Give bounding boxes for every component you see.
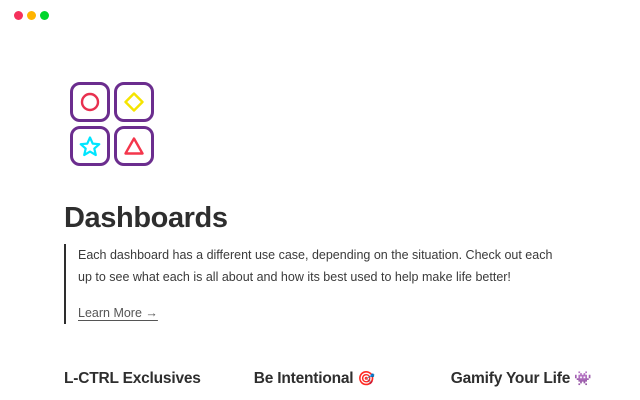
page-title: Dashboards xyxy=(64,202,228,235)
page-content: Dashboards Each dashboard has a differen… xyxy=(0,30,640,400)
dashboard-icon-grid xyxy=(70,82,158,170)
window-close-button[interactable] xyxy=(14,11,23,20)
diamond-icon xyxy=(123,91,145,113)
icon-tile-circle[interactable] xyxy=(70,82,110,122)
description-text: Each dashboard has a different use case,… xyxy=(78,244,568,288)
icon-tile-triangle[interactable] xyxy=(114,126,154,166)
section-label: L-CTRL Exclusives xyxy=(64,370,201,387)
circle-icon xyxy=(79,91,101,113)
star-icon xyxy=(79,135,101,157)
section-heading-l-ctrl-exclusives[interactable]: L-CTRL Exclusives xyxy=(64,370,201,388)
section-headings-row: L-CTRL Exclusives Be Intentional 🎯 Gamif… xyxy=(0,370,640,388)
alien-monster-icon: 👾 xyxy=(574,370,591,386)
target-icon: 🎯 xyxy=(358,370,375,386)
window-titlebar xyxy=(0,0,640,30)
description-block: Each dashboard has a different use case,… xyxy=(64,244,574,324)
icon-tile-diamond[interactable] xyxy=(114,82,154,122)
window-maximize-button[interactable] xyxy=(40,11,49,20)
window-minimize-button[interactable] xyxy=(27,11,36,20)
icon-tile-star[interactable] xyxy=(70,126,110,166)
triangle-icon xyxy=(123,135,145,157)
learn-more-link[interactable]: Learn More → xyxy=(78,306,158,320)
section-label: Gamify Your Life xyxy=(451,370,570,387)
section-heading-be-intentional[interactable]: Be Intentional 🎯 xyxy=(254,370,375,388)
section-heading-gamify-your-life[interactable]: Gamify Your Life 👾 xyxy=(451,370,592,388)
section-label: Be Intentional xyxy=(254,370,354,387)
